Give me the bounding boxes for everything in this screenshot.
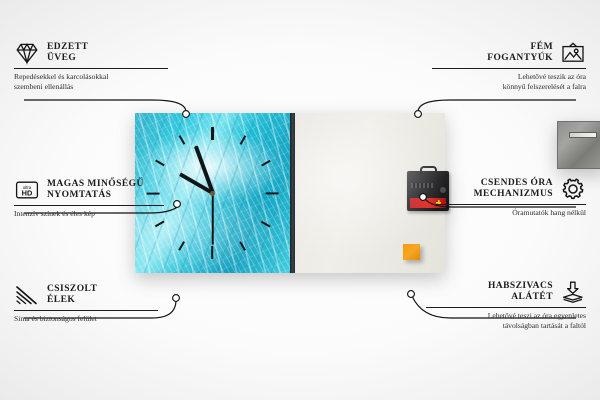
callout-description: Sima és biztonságos felület: [14, 314, 166, 324]
clock-tick: [211, 127, 213, 140]
mechanism-hanging-loop: [420, 166, 437, 175]
arrow-into-layers-icon: [560, 280, 586, 304]
clock-tick: [265, 192, 278, 194]
callout-header: EDZETT ÜVEG: [14, 41, 180, 65]
clock-center-cap: [210, 191, 215, 196]
diamond-icon: [14, 41, 40, 65]
callout-tempered-glass: EDZETT ÜVEG Repedésekkel és karcolásokka…: [14, 41, 180, 91]
callout-metal-hooks: FÉM FOGANTYÚK Lehetővé teszik az óra kön…: [420, 41, 586, 91]
callout-divider: [14, 68, 168, 69]
ultra-hd-icon: ultra HD: [14, 178, 40, 202]
callout-header: ultra HD MAGAS MINŐSÉGŰ NYOMTATÁS: [14, 178, 174, 202]
leader-metal-hooks: [418, 100, 576, 112]
hanger-keyhole-slot: [569, 132, 597, 138]
product-photo: [135, 113, 445, 273]
callout-header: CSISZOLT ÉLEK: [14, 283, 166, 307]
callout-title: CSENDES ÓRA MECHANIZMUS: [474, 178, 553, 201]
beveled-edge-icon: [14, 283, 40, 307]
callout-high-quality-print: ultra HD MAGAS MINŐSÉGŰ NYOMTATÁS Intenz…: [14, 178, 174, 219]
callout-silent-mechanism: CSENDES ÓRA MECHANIZMUS Óramutatók hang …: [426, 177, 586, 218]
callout-title: FÉM FOGANTYÚK: [487, 42, 553, 65]
callout-description: Óramutatók hang nélkül: [426, 208, 586, 218]
callout-divider: [14, 310, 158, 311]
callout-description: Intenzív színek és éles kép: [14, 209, 174, 219]
callout-description: Lehetővé teszik az óra könnyű felszerelé…: [420, 72, 586, 91]
callout-header: FÉM FOGANTYÚK: [420, 41, 586, 65]
metal-hanger-plate: [557, 121, 600, 169]
clock-back-panel: [295, 113, 445, 273]
leader-tempered-glass: [24, 100, 186, 112]
callout-divider: [432, 68, 586, 69]
callout-title: CSISZOLT ÉLEK: [47, 284, 97, 307]
foam-spacer-pad: [403, 244, 420, 260]
svg-text:HD: HD: [22, 189, 33, 198]
callout-description: Lehetővé teszi az óra egyenletes távolsá…: [416, 311, 586, 330]
leader-dot-polished-edges: [173, 295, 180, 302]
callout-title: MAGAS MINŐSÉGŰ NYOMTATÁS: [47, 179, 144, 202]
callout-divider: [436, 204, 586, 205]
gear-icon: [560, 177, 586, 201]
callout-header: HABSZIVACS ALÁTÉT: [416, 280, 586, 304]
callout-divider: [426, 307, 586, 308]
callout-title: EDZETT ÜVEG: [47, 42, 88, 65]
leader-dot-foam-pad: [408, 291, 415, 298]
infographic-canvas: EDZETT ÜVEG Repedésekkel és karcolásokka…: [0, 0, 600, 400]
callout-title: HABSZIVACS ALÁTÉT: [488, 281, 553, 304]
callout-polished-edges: CSISZOLT ÉLEK Sima és biztonságos felüle…: [14, 283, 166, 324]
second-hand: [212, 193, 214, 245]
callout-description: Repedésekkel és karcolásokkal szembeni e…: [14, 72, 180, 91]
picture-hanger-icon: [560, 41, 586, 65]
callout-foam-pad: HABSZIVACS ALÁTÉT Lehetővé teszi az óra …: [416, 280, 586, 330]
callout-header: CSENDES ÓRA MECHANIZMUS: [426, 177, 586, 201]
callout-divider: [14, 205, 164, 206]
